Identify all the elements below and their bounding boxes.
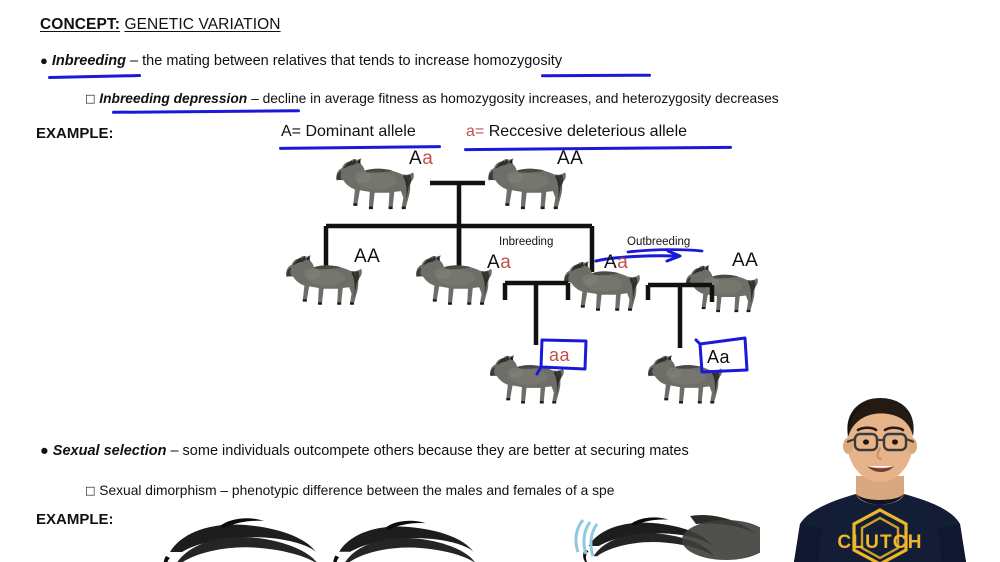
genotype-g2-2: Aa xyxy=(487,252,511,274)
inbreeding-depression-term: Inbreeding depression xyxy=(99,91,247,106)
inbreeding-definition: – the mating between relatives that tend… xyxy=(130,53,562,69)
lecture-slide: CONCEPT: GENETIC VARIATION ● Inbreeding … xyxy=(0,0,1000,562)
sexual-selection-term: Sexual selection xyxy=(53,443,167,459)
example-label-top: EXAMPLE: xyxy=(36,125,114,142)
legend-recessive-symbol: a= xyxy=(466,123,484,140)
sexual-selection-bullet-line: ● Sexual selection – some individuals ou… xyxy=(40,443,689,459)
homozygosity-underline xyxy=(541,74,651,77)
genotype-g1-left-recessive: a xyxy=(422,148,433,169)
annotation-outbreeding: Outbreeding xyxy=(627,236,690,248)
genotype-g2-3-recessive: a xyxy=(617,252,628,273)
legend-dominant-text: Dominant allele xyxy=(301,123,416,140)
example-label-bottom: EXAMPLE: xyxy=(36,511,114,528)
legend-recessive-underline xyxy=(464,146,732,151)
concept-value: GENETIC VARIATION xyxy=(124,16,280,33)
sexual-dimorphism-line: □ Sexual dimorphism – phenotypic differe… xyxy=(85,483,614,498)
genotype-g2-1-label: AA xyxy=(354,246,380,267)
legend-recessive-text: Reccesive deleterious allele xyxy=(484,123,687,140)
genotype-g2-4: AA xyxy=(732,250,758,272)
genotype-g2-2-dominant: A xyxy=(487,252,500,273)
genotype-g2-3-dominant: A xyxy=(604,252,617,273)
legend-dominant-symbol: A= xyxy=(281,123,301,140)
sexual-dimorphism-definition: – phenotypic difference between the male… xyxy=(220,483,614,498)
genotype-g1-right-label: AA xyxy=(557,148,583,169)
bullet-marker-2: ● xyxy=(40,443,49,459)
concept-heading: CONCEPT: GENETIC VARIATION xyxy=(40,16,281,34)
genotype-g2-4-label: AA xyxy=(732,250,758,271)
genotype-g3-left: aa xyxy=(549,345,570,366)
concept-label: CONCEPT: xyxy=(40,16,120,33)
inbreeding-term: Inbreeding xyxy=(52,53,126,69)
inbreeding-term-underline xyxy=(48,74,141,79)
bullet-marker: ● xyxy=(40,53,48,68)
inbreeding-bullet-line: ● Inbreeding – the mating between relati… xyxy=(40,53,562,69)
genotype-g1-right: AA xyxy=(557,148,583,170)
legend-recessive: a= Reccesive deleterious allele xyxy=(466,123,687,141)
genotype-g1-left-dominant: A xyxy=(409,148,422,169)
sexual-selection-definition: – some individuals outcompete others bec… xyxy=(170,443,688,459)
legend-dominant: A= Dominant allele xyxy=(281,123,416,141)
instructor-webcam: CLUTCH xyxy=(760,390,1000,562)
inbreeding-depression-line: □ Inbreeding depression – decline in ave… xyxy=(85,91,779,106)
sub-bullet-marker-2: □ xyxy=(85,484,95,497)
genotype-g3-right: Aa xyxy=(707,347,730,368)
sexual-dimorphism-term: Sexual dimorphism xyxy=(99,483,216,498)
genotype-g2-2-recessive: a xyxy=(500,252,511,273)
genotype-g2-1: AA xyxy=(354,246,380,268)
inbreeding-depression-underline xyxy=(112,109,300,113)
annotation-inbreeding: Inbreeding xyxy=(499,236,553,248)
sub-bullet-marker: □ xyxy=(85,92,95,105)
genotype-g1-left: Aa xyxy=(409,148,433,170)
inbreeding-depression-definition: – decline in average fitness as homozygo… xyxy=(251,91,779,106)
genotype-g2-3: Aa xyxy=(604,252,628,274)
shirt-logo-text: CLUTCH xyxy=(837,532,922,553)
